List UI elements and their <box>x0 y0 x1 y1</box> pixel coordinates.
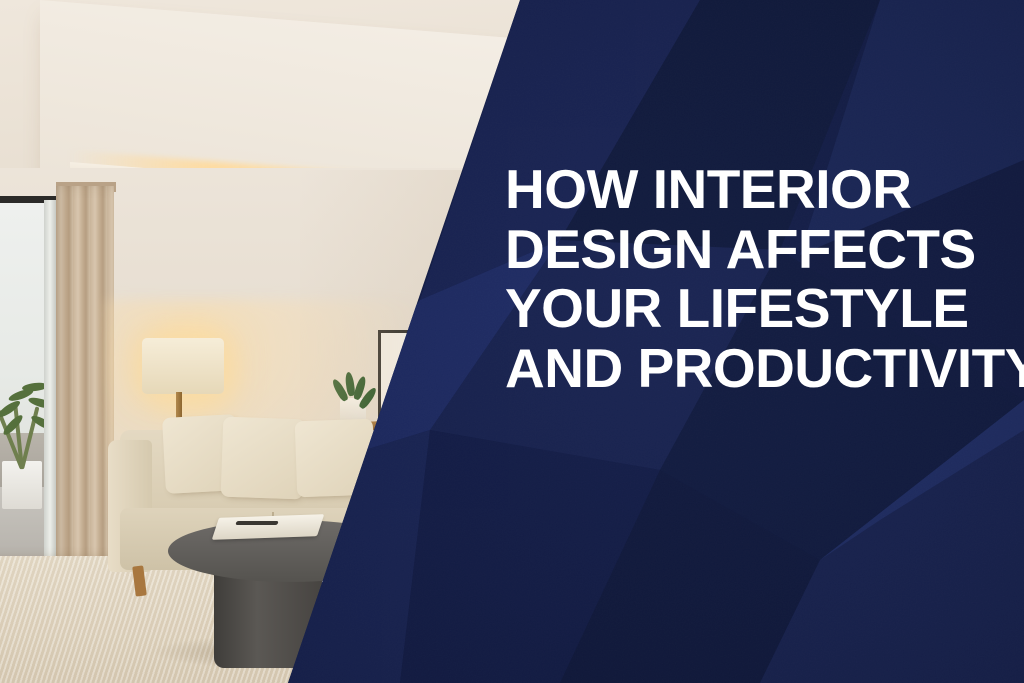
headline-line-4: AND PRODUCTIVITY <box>505 339 1005 399</box>
headline-line-3: YOUR LIFESTYLE <box>505 279 1005 339</box>
throw-pillow <box>295 419 376 498</box>
floor-lamp-shade <box>142 338 224 394</box>
door-rail <box>44 200 56 572</box>
article-hero-banner: HOW INTERIOR DESIGN AFFECTS YOUR LIFESTY… <box>0 0 1024 683</box>
page-title: HOW INTERIOR DESIGN AFFECTS YOUR LIFESTY… <box>505 160 1005 399</box>
headline-line-2: DESIGN AFFECTS <box>505 220 1005 280</box>
throw-pillow <box>221 417 306 500</box>
headline-line-1: HOW INTERIOR <box>505 160 1005 220</box>
book-detail <box>235 521 278 525</box>
book <box>212 514 324 540</box>
